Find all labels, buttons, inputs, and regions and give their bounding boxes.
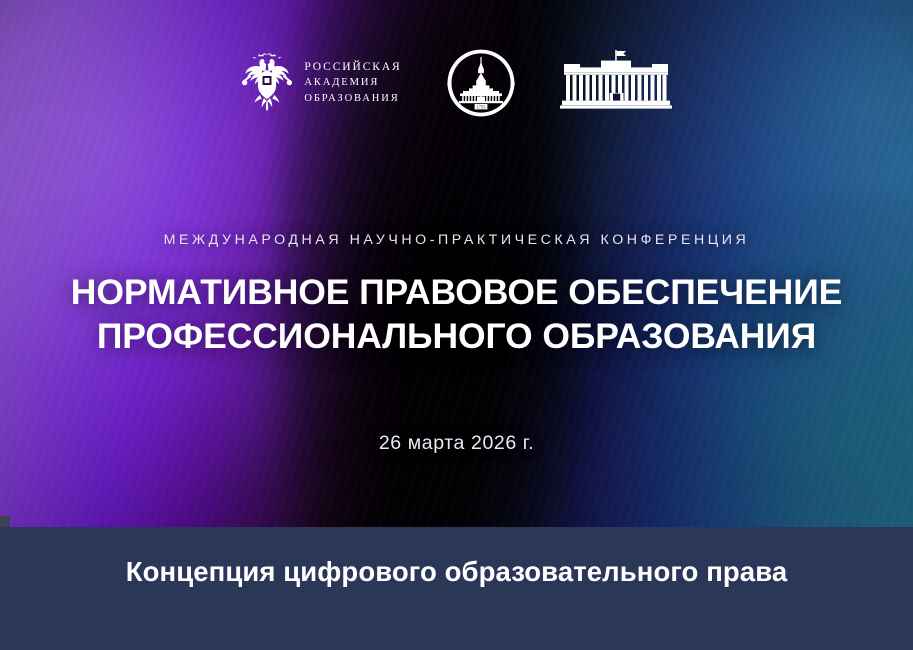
banner-left-notch <box>0 516 10 527</box>
rao-line-1: Российская <box>304 62 401 74</box>
conference-eyebrow-label: МЕЖДУНАРОДНАЯ НАУЧНО-ПРАКТИЧЕСКАЯ КОНФЕР… <box>0 232 913 248</box>
conference-date: 26 марта 2026 г. <box>0 432 913 455</box>
logo-moscow-state-university: 1755 <box>446 46 516 120</box>
logo-russian-academy-of-education: Российская академия образования <box>241 46 401 120</box>
rao-line-2: академия <box>304 78 401 89</box>
bottom-banner-title: Концепция цифрового образовательного пра… <box>126 556 788 588</box>
logo-ministry-building <box>560 46 672 120</box>
russian-academy-of-education-wordmark: Российская академия образования <box>304 62 401 105</box>
page-title-line-1: НОРМАТИВНОЕ ПРАВОВОЕ ОБЕСПЕЧЕНИЕ <box>0 270 913 314</box>
page-title-line-2: ПРОФЕССИОНАЛЬНОГО ОБРАЗОВАНИЯ <box>0 314 913 358</box>
conference-title-slide: Российская академия образования <box>0 0 913 650</box>
double-headed-eagle-emblem-icon <box>241 53 293 113</box>
rao-line-3: образования <box>304 94 401 105</box>
msu-building-wreath-emblem-icon: 1755 <box>446 48 516 118</box>
page-title: НОРМАТИВНОЕ ПРАВОВОЕ ОБЕСПЕЧЕНИЕ ПРОФЕСС… <box>0 270 913 358</box>
bottom-banner: Концепция цифрового образовательного пра… <box>0 527 913 650</box>
classical-columned-building-with-flag-icon <box>560 49 672 117</box>
msu-founded-year: 1755 <box>476 104 486 109</box>
logo-row: Российская академия образования <box>0 46 913 120</box>
